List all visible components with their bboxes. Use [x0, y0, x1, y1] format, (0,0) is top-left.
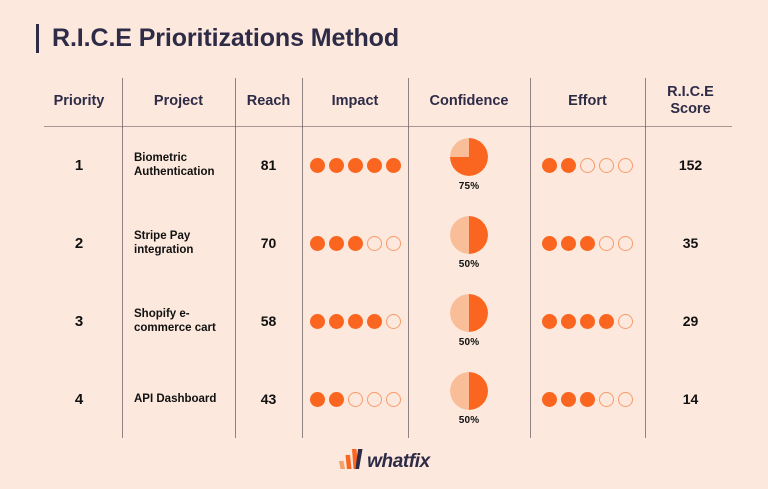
cell-reach: 81 — [235, 126, 302, 204]
cell-confidence: 50% — [408, 360, 530, 438]
confidence-percent-label: 50% — [459, 337, 480, 348]
effort-dot-filled — [561, 314, 576, 329]
cell-impact — [302, 126, 408, 204]
effort-dot-filled — [561, 158, 576, 173]
confidence-pie-chart: 50% — [450, 294, 488, 348]
effort-dot-empty — [618, 314, 633, 329]
impact-rating — [310, 236, 401, 251]
cell-confidence: 50% — [408, 282, 530, 360]
rice-score-value: 29 — [683, 313, 699, 329]
impact-dot-filled — [386, 158, 401, 173]
cell-project: API Dashboard — [122, 360, 235, 438]
confidence-percent-label: 50% — [459, 259, 480, 270]
rice-score-value: 14 — [683, 391, 699, 407]
project-name: Biometric Authentication — [122, 151, 235, 180]
effort-rating — [542, 314, 633, 329]
priority-value: 3 — [75, 313, 83, 330]
effort-dot-filled — [599, 314, 614, 329]
table-row: 3Shopify e-commerce cart5850%29 — [36, 282, 736, 360]
reach-value: 58 — [261, 313, 277, 329]
impact-dot-filled — [310, 314, 325, 329]
effort-dot-filled — [542, 392, 557, 407]
whatfix-logo-text: whatfix — [367, 452, 430, 471]
effort-dot-empty — [599, 236, 614, 251]
brand-footer: whatfix — [0, 448, 768, 474]
confidence-percent-label: 50% — [459, 415, 480, 426]
cell-reach: 43 — [235, 360, 302, 438]
cell-project: Stripe Pay integration — [122, 204, 235, 282]
impact-dot-empty — [386, 314, 401, 329]
column-header-impact: Impact — [302, 76, 408, 126]
cell-effort — [530, 126, 645, 204]
page-title: R.I.C.E Prioritizations Method — [36, 20, 399, 56]
effort-dot-filled — [580, 236, 595, 251]
effort-dot-filled — [542, 158, 557, 173]
impact-dot-filled — [310, 392, 325, 407]
priority-value: 1 — [75, 157, 83, 174]
cell-score: 14 — [645, 360, 736, 438]
cell-score: 29 — [645, 282, 736, 360]
title-accent-bar — [36, 24, 39, 53]
impact-dot-filled — [348, 158, 363, 173]
whatfix-w-mark-icon — [338, 448, 364, 475]
effort-dot-empty — [599, 158, 614, 173]
confidence-percent-label: 75% — [459, 181, 480, 192]
column-header-reach: Reach — [235, 76, 302, 126]
impact-dot-filled — [348, 314, 363, 329]
impact-dot-filled — [348, 236, 363, 251]
effort-dot-filled — [542, 314, 557, 329]
impact-dot-filled — [329, 236, 344, 251]
cell-impact — [302, 360, 408, 438]
impact-dot-empty — [348, 392, 363, 407]
cell-reach: 70 — [235, 204, 302, 282]
effort-dot-empty — [618, 158, 633, 173]
impact-rating — [310, 158, 401, 173]
cell-confidence: 75% — [408, 126, 530, 204]
effort-dot-filled — [580, 314, 595, 329]
effort-dot-filled — [542, 236, 557, 251]
impact-dot-empty — [386, 392, 401, 407]
page-title-text: R.I.C.E Prioritizations Method — [52, 26, 399, 51]
rice-table: Priority Project Reach Impact Confidence… — [36, 76, 736, 426]
confidence-pie-chart: 50% — [450, 216, 488, 270]
cell-effort — [530, 204, 645, 282]
column-header-reach-label: Reach — [247, 93, 291, 110]
impact-rating — [310, 314, 401, 329]
impact-dot-empty — [367, 392, 382, 407]
effort-dot-filled — [561, 392, 576, 407]
cell-project: Biometric Authentication — [122, 126, 235, 204]
effort-dot-filled — [580, 392, 595, 407]
cell-score: 35 — [645, 204, 736, 282]
cell-project: Shopify e-commerce cart — [122, 282, 235, 360]
table-body: 1Biometric Authentication8175%1522Stripe… — [36, 126, 736, 438]
impact-dot-filled — [367, 314, 382, 329]
effort-dot-filled — [561, 236, 576, 251]
cell-priority: 1 — [36, 126, 122, 204]
impact-dot-empty — [386, 236, 401, 251]
reach-value: 70 — [261, 235, 277, 251]
project-name: Shopify e-commerce cart — [122, 307, 235, 336]
rice-score-value: 152 — [679, 157, 702, 173]
project-name: API Dashboard — [122, 392, 235, 406]
cell-priority: 2 — [36, 204, 122, 282]
cell-impact — [302, 282, 408, 360]
project-name: Stripe Pay integration — [122, 229, 235, 258]
cell-reach: 58 — [235, 282, 302, 360]
effort-dot-empty — [618, 236, 633, 251]
column-header-project: Project — [122, 76, 235, 126]
impact-dot-filled — [367, 158, 382, 173]
effort-rating — [542, 158, 633, 173]
cell-effort — [530, 282, 645, 360]
cell-effort — [530, 360, 645, 438]
table-row: 2Stripe Pay integration7050%35 — [36, 204, 736, 282]
effort-dot-empty — [580, 158, 595, 173]
reach-value: 43 — [261, 391, 277, 407]
cell-score: 152 — [645, 126, 736, 204]
rice-prioritization-infographic: R.I.C.E Prioritizations Method Priority … — [0, 0, 768, 489]
impact-dot-empty — [367, 236, 382, 251]
effort-dot-empty — [618, 392, 633, 407]
effort-dot-empty — [599, 392, 614, 407]
table-row: 4API Dashboard4350%14 — [36, 360, 736, 438]
reach-value: 81 — [261, 157, 277, 173]
column-header-confidence-label: Confidence — [430, 93, 509, 110]
column-header-impact-label: Impact — [332, 93, 379, 110]
column-header-priority: Priority — [36, 76, 122, 126]
confidence-pie-chart: 75% — [450, 138, 488, 192]
column-header-score-label: R.I.C.E Score — [645, 84, 736, 117]
column-header-effort: Effort — [530, 76, 645, 126]
impact-rating — [310, 392, 401, 407]
column-header-priority-label: Priority — [54, 93, 105, 110]
cell-priority: 3 — [36, 282, 122, 360]
column-header-effort-label: Effort — [568, 93, 607, 110]
effort-rating — [542, 392, 633, 407]
impact-dot-filled — [329, 392, 344, 407]
cell-priority: 4 — [36, 360, 122, 438]
priority-value: 2 — [75, 235, 83, 252]
priority-value: 4 — [75, 391, 83, 408]
rice-score-value: 35 — [683, 235, 699, 251]
effort-rating — [542, 236, 633, 251]
column-header-project-label: Project — [154, 93, 203, 110]
impact-dot-filled — [329, 314, 344, 329]
column-header-confidence: Confidence — [408, 76, 530, 126]
impact-dot-filled — [329, 158, 344, 173]
impact-dot-filled — [310, 236, 325, 251]
cell-confidence: 50% — [408, 204, 530, 282]
table-row: 1Biometric Authentication8175%152 — [36, 126, 736, 204]
column-header-score: R.I.C.E Score — [645, 76, 736, 126]
table-header-row: Priority Project Reach Impact Confidence… — [36, 76, 736, 126]
cell-impact — [302, 204, 408, 282]
impact-dot-filled — [310, 158, 325, 173]
confidence-pie-chart: 50% — [450, 372, 488, 426]
